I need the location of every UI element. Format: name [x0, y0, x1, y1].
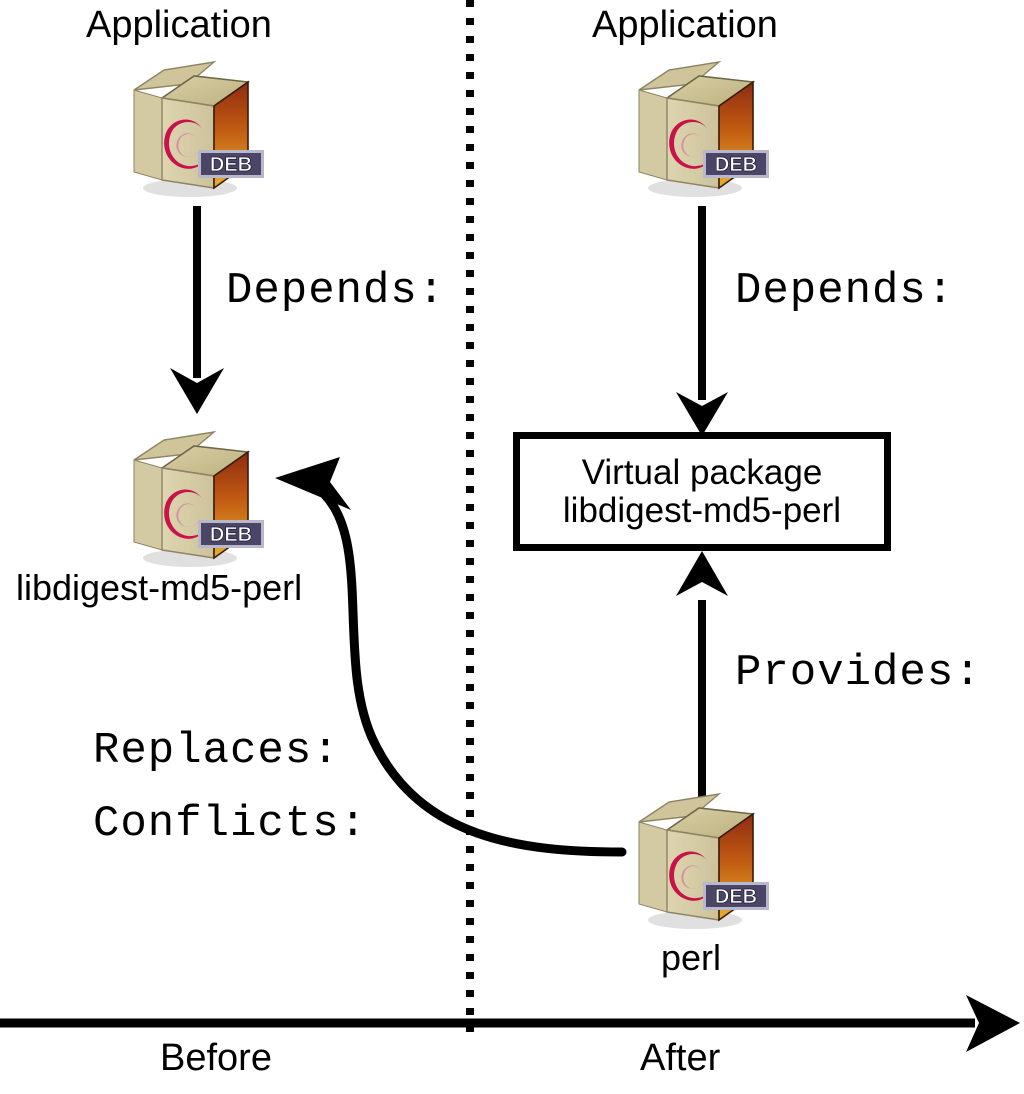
debian-package-icon: DEB: [118, 54, 268, 204]
left-application-title: Application: [86, 6, 272, 44]
timeline-axis: [0, 995, 1020, 1052]
deb-badge: DEB: [198, 150, 264, 178]
svg-text:DEB: DEB: [715, 886, 757, 908]
arrow-left-depends: [170, 206, 224, 414]
conflicts-label: Conflicts:: [93, 802, 367, 846]
deb-badge: DEB: [703, 150, 769, 178]
timeline-after-label: After: [640, 1039, 720, 1077]
perl-package-label: perl: [661, 940, 721, 976]
left-depends-label: Depends:: [226, 269, 445, 313]
deb-badge: DEB: [703, 882, 769, 910]
libdigest-md5-perl-package-label: libdigest-md5-perl: [16, 570, 302, 606]
right-application-title: Application: [592, 6, 778, 44]
debian-package-icon: DEB: [623, 54, 773, 204]
virtual-package-box: Virtual package libdigest-md5-perl: [513, 432, 891, 551]
provides-label: Provides:: [735, 651, 982, 695]
diagram-canvas: DEB: [0, 0, 1024, 1094]
svg-text:DEB: DEB: [715, 154, 757, 176]
replaces-label: Replaces:: [93, 729, 340, 773]
virtual-package-box-line-2: libdigest-md5-perl: [563, 492, 841, 530]
arrow-provides: [676, 551, 728, 800]
svg-text:DEB: DEB: [210, 524, 252, 546]
deb-badge: DEB: [198, 520, 264, 548]
arrow-right-depends: [676, 206, 728, 436]
timeline-before-label: Before: [160, 1039, 272, 1077]
svg-text:DEB: DEB: [210, 154, 252, 176]
debian-package-icon: DEB: [623, 786, 773, 936]
debian-package-icon: DEB: [118, 424, 268, 574]
virtual-package-box-line-1: Virtual package: [582, 454, 823, 492]
right-depends-label: Depends:: [735, 269, 954, 313]
